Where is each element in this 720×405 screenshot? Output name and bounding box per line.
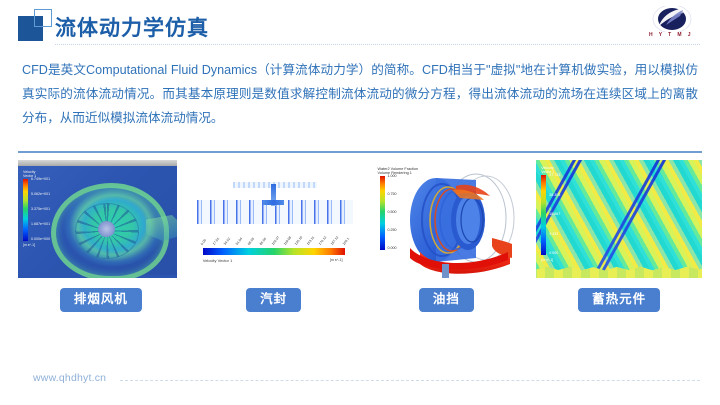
legend-title: Velocity Vector 1 — [203, 258, 233, 263]
legend-colorbar — [23, 179, 28, 241]
colorbar-tick-label: 0.00 — [200, 238, 207, 246]
legend-colorbar-horizontal — [203, 248, 345, 255]
colorbar-tick-label: 34.02 — [223, 237, 231, 246]
legend-value: 1.000 — [388, 175, 397, 179]
legend-unit: [m s^-1] — [23, 243, 35, 247]
legend-value: 37.733 — [549, 174, 560, 178]
section-divider — [18, 151, 702, 153]
legend-value: 0.500 — [388, 211, 397, 215]
photo-top-edge — [18, 160, 184, 166]
caption-oil-deflector[interactable]: 油挡 — [419, 288, 474, 312]
legend-unit: [m s^-1] — [541, 258, 553, 262]
page-title: 流体动力学仿真 — [55, 12, 209, 42]
colorbar-tick-label: 204.1 — [342, 237, 350, 246]
company-logo: H Y T M J — [638, 6, 704, 46]
caption-cell: 油挡 — [364, 288, 530, 312]
colorbar-tick-label: 68.05 — [247, 237, 255, 246]
colorbar-tick-label: 153.11 — [306, 236, 315, 246]
legend-value: 5.062e+001 — [31, 193, 50, 197]
caption-row: 排烟风机 汽封 油挡 蓄热元件 — [18, 288, 702, 312]
logo-wordmark: H Y T M J — [638, 32, 704, 38]
fan-hub — [98, 221, 115, 237]
simulation-image-exhaust-fan[interactable]: Velocity Vector 1 6.749e+001 5.062e+001 … — [18, 160, 184, 278]
legend-value: 28.300 — [549, 194, 560, 198]
legend-values: 37.733 28.300 18.867 9.433 0.000 — [549, 174, 560, 256]
legend-value: 0.250 — [388, 229, 397, 233]
legend-value: 18.867 — [549, 213, 560, 217]
colorbar-tick-label: 136.10 — [294, 235, 304, 246]
colorbar-tick-label: 51.04 — [235, 237, 243, 246]
colorbar-tick-label: 17.01 — [211, 237, 219, 246]
legend-title: Water2 Volume Fraction Volume Rendering … — [378, 167, 419, 176]
simulation-image-heat-storage-element[interactable]: Velocity Vector 1 37.733 28.300 18.867 9… — [536, 160, 702, 278]
legend-unit: [m s^-1] — [330, 258, 343, 262]
seal-geometry — [197, 182, 353, 224]
intro-paragraph: CFD是英文Computational Fluid Dynamics（计算流体动… — [22, 58, 698, 130]
flow-streak — [583, 160, 663, 278]
colorbar-tick-label: 187.13 — [330, 235, 340, 246]
colorbar-tick-label: 102.07 — [271, 235, 281, 246]
legend-value: 0.000e+000 — [31, 238, 50, 242]
page-header: 流体动力学仿真 H Y T M J — [0, 0, 720, 50]
logo-swoosh-icon — [650, 6, 694, 32]
caption-exhaust-fan[interactable]: 排烟风机 — [60, 288, 142, 312]
colorbar-tick-label: 85.06 — [259, 237, 267, 246]
legend-values: 1.000 0.750 0.500 0.250 0.000 — [388, 175, 397, 251]
legend-value: 9.433 — [549, 233, 560, 237]
caption-cell: 汽封 — [191, 288, 357, 312]
corrugated-plate-edge — [536, 265, 702, 278]
colorbar-tick-label: 170.12 — [318, 235, 328, 246]
legend-value: 0.000 — [388, 247, 397, 251]
seal-center-crossbar — [263, 200, 284, 205]
legend-colorbar — [541, 175, 546, 255]
simulation-gallery: Velocity Vector 1 6.749e+001 5.062e+001 … — [18, 160, 702, 278]
colorbar-tick-labels: 0.0017.0134.0251.0468.0585.06102.07119.0… — [203, 232, 351, 246]
caption-cell: 排烟风机 — [18, 288, 184, 312]
legend-value: 6.749e+001 — [31, 178, 50, 182]
legend-values: 6.749e+001 5.062e+001 3.375e+001 1.687e+… — [31, 178, 50, 242]
title-decoration-outline-square — [34, 9, 52, 27]
caption-steam-seal[interactable]: 汽封 — [246, 288, 301, 312]
footer-website-url[interactable]: www.qhdhyt.cn — [33, 372, 106, 384]
caption-cell: 蓄热元件 — [536, 288, 702, 312]
header-divider — [55, 44, 700, 46]
caption-heat-storage-element[interactable]: 蓄热元件 — [578, 288, 660, 312]
page-footer: www.qhdhyt.cn — [0, 372, 720, 392]
legend-value: 1.687e+001 — [31, 223, 50, 227]
legend-value: 0.750 — [388, 193, 397, 197]
simulation-image-steam-seal[interactable]: 0.0017.0134.0251.0468.0585.06102.07119.0… — [191, 160, 357, 278]
colorbar-tick-label: 119.08 — [282, 236, 291, 246]
simulation-image-oil-deflector[interactable]: Water2 Volume Fraction Volume Rendering … — [364, 160, 530, 278]
legend-colorbar — [380, 176, 385, 250]
footer-divider — [120, 380, 700, 382]
photo-right-edge — [177, 160, 184, 278]
legend-value: 0.000 — [549, 252, 560, 256]
legend-value: 3.375e+001 — [31, 208, 50, 212]
